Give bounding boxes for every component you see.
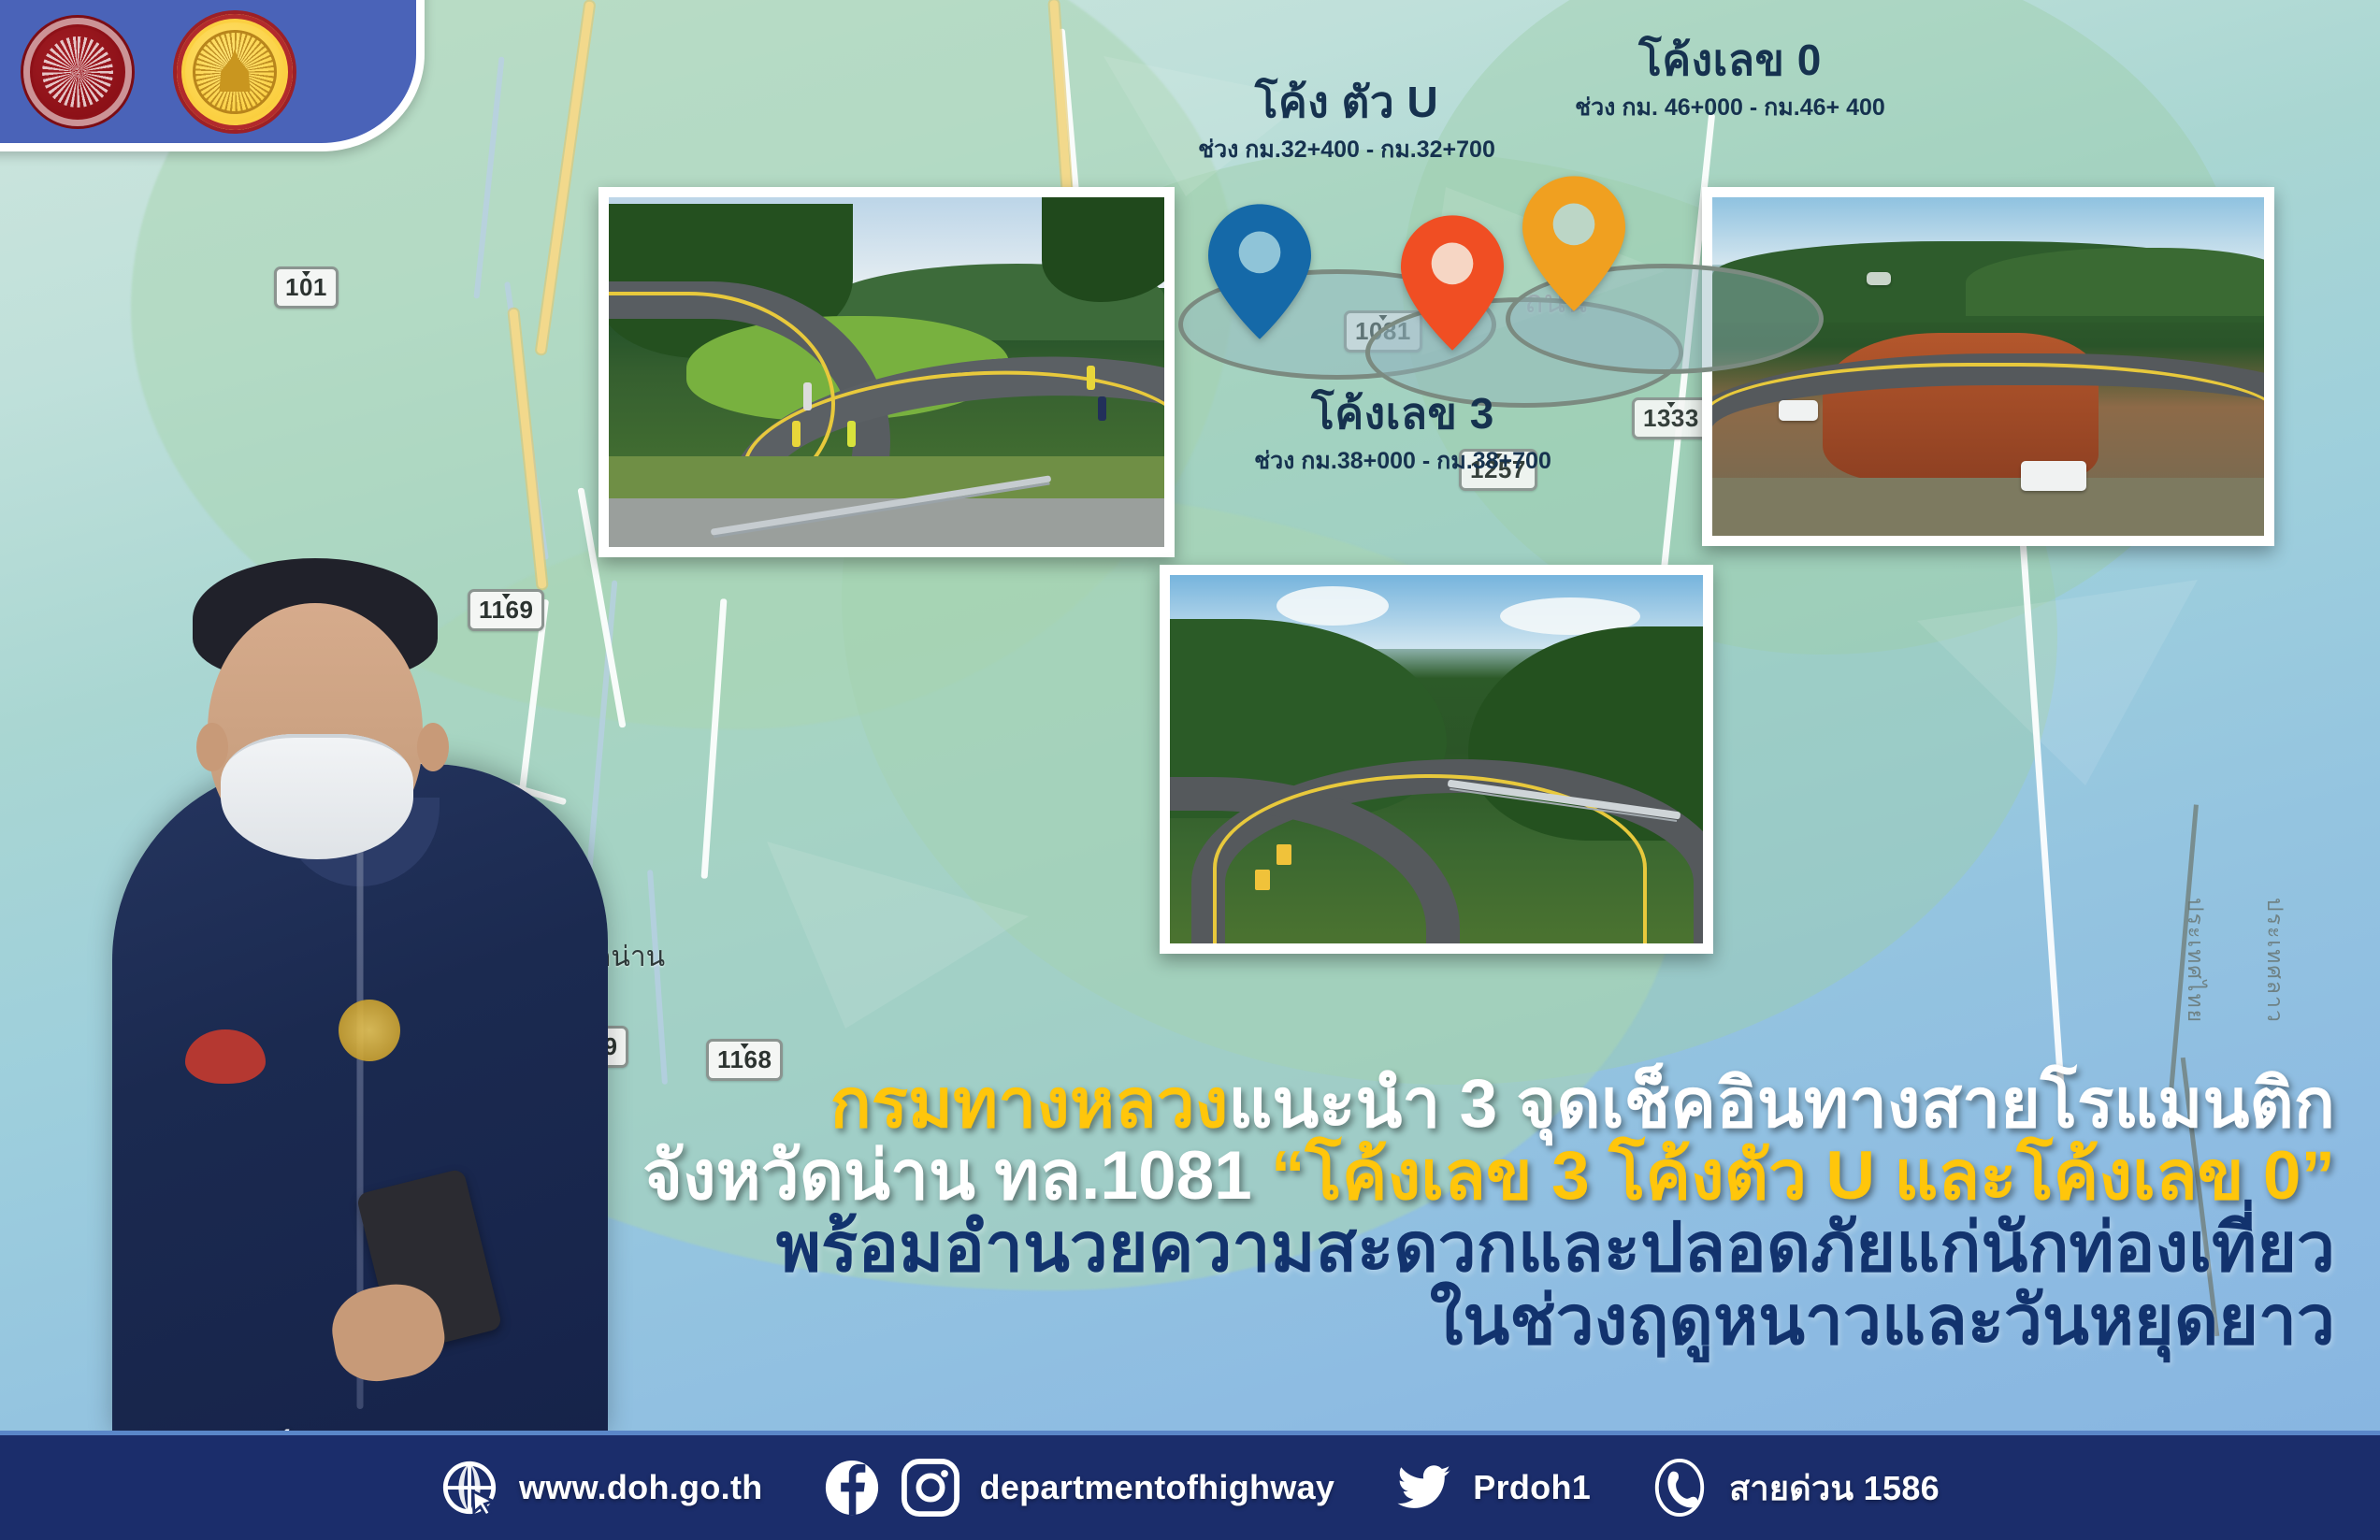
website-group[interactable]: www.doh.go.th bbox=[440, 1459, 763, 1517]
photo-zero-curve bbox=[1702, 187, 2274, 546]
headline-line-2-white: จังหวัดน่าน ทล.1081 bbox=[642, 1138, 1271, 1214]
headline-line-1-rest: แนะนำ 3 จุดเช็คอินทางสายโรแมนติก bbox=[1228, 1066, 2335, 1142]
hotline-number[interactable]: สายด่วน 1586 bbox=[1729, 1461, 1940, 1515]
ear-right bbox=[417, 723, 449, 771]
hotline-group[interactable]: สายด่วน 1586 bbox=[1651, 1459, 1940, 1517]
callout-three-curve-range: ช่วง กม.38+000 - กม.38+700 bbox=[1047, 442, 1758, 480]
ministry-of-transport-seal bbox=[23, 18, 132, 126]
callout-three-curve-title: โค้งเลข 3 bbox=[1047, 391, 1758, 436]
headline-line-1-highlight: กรมทางหลวง bbox=[830, 1066, 1229, 1142]
headline-line-2: จังหวัดน่าน ทล.1081 “โค้งเลข 3 โค้งตัว U… bbox=[642, 1140, 2335, 1212]
ear-left bbox=[196, 723, 228, 771]
headline-line-1: กรมทางหลวงแนะนำ 3 จุดเช็คอินทางสายโรแมนต… bbox=[642, 1068, 2335, 1140]
facebook-icon[interactable] bbox=[823, 1459, 881, 1517]
callout-zero-curve: โค้งเลข 0 ช่วง กม. 46+000 - กม.46+ 400 bbox=[1459, 37, 2001, 126]
twitter-group[interactable]: Prdoh1 bbox=[1394, 1459, 1591, 1517]
map-pin-u-curve[interactable] bbox=[1208, 204, 1311, 339]
headline-line-4: ในช่วงฤดูหนาวและวันหยุดยาว bbox=[642, 1285, 2335, 1357]
headline-line-2-highlight: “โค้งเลข 3 โค้งตัว U และโค้งเลข 0” bbox=[1271, 1138, 2335, 1214]
headline-block: กรมทางหลวงแนะนำ 3 จุดเช็คอินทางสายโรแมนต… bbox=[642, 1068, 2335, 1358]
route-shield-101: 101 bbox=[274, 266, 339, 309]
photo-u-curve bbox=[599, 187, 1175, 557]
callout-zero-curve-title: โค้งเลข 0 bbox=[1459, 37, 2001, 82]
callout-u-curve-range: ช่วง กม.32+400 - กม.32+700 bbox=[1075, 131, 1618, 168]
headline-line-3: พร้อมอำนวยความสะดวกและปลอดภัยแก่นักท่องเ… bbox=[642, 1212, 2335, 1284]
minister-portrait: นายศักดิ์สยาม ชิดชอบ รัฐมนตรีว่าการกระทร… bbox=[0, 427, 645, 1437]
social-handle[interactable]: departmentofhighway bbox=[980, 1468, 1335, 1507]
twitter-bird-icon[interactable] bbox=[1394, 1459, 1452, 1517]
infographic-poster: 1336 4007 101 1169 4019 1169 1168 1081 1… bbox=[0, 0, 2380, 1540]
callout-zero-curve-range: ช่วง กม. 46+000 - กม.46+ 400 bbox=[1459, 89, 2001, 126]
stupa-glyph bbox=[213, 49, 256, 92]
map-pin-zero-curve[interactable] bbox=[1522, 176, 1625, 311]
department-of-highways-seal bbox=[177, 14, 293, 130]
instagram-icon[interactable] bbox=[902, 1459, 959, 1517]
agency-seals-badge bbox=[0, 0, 425, 151]
callout-three-curve: โค้งเลข 3 ช่วง กม.38+000 - กม.38+700 bbox=[1047, 391, 1758, 480]
face-mask bbox=[221, 734, 413, 859]
website-url[interactable]: www.doh.go.th bbox=[519, 1468, 763, 1507]
globe-cursor-icon bbox=[440, 1459, 498, 1517]
phone-icon bbox=[1651, 1459, 1709, 1517]
map-pin-three-curve[interactable] bbox=[1401, 215, 1504, 351]
photo-three-curve bbox=[1160, 565, 1713, 954]
social-group[interactable]: departmentofhighway bbox=[823, 1459, 1335, 1517]
twitter-handle[interactable]: Prdoh1 bbox=[1473, 1468, 1591, 1507]
footer-bar: www.doh.go.th departmentofhighway Prdoh1 bbox=[0, 1431, 2380, 1540]
map-label-laos: ประเทศลาว bbox=[2258, 898, 2292, 1024]
jacket-logo-emblem bbox=[339, 1000, 400, 1061]
map-label-thailand: ประเทศไทย bbox=[2179, 898, 2213, 1024]
